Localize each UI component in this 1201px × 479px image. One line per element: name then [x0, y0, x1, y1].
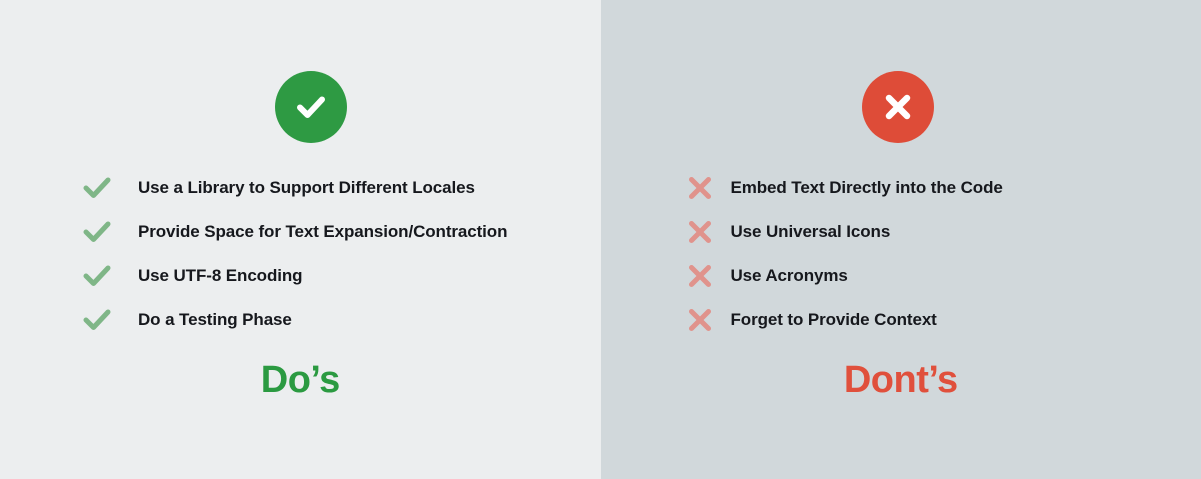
- check-icon: [80, 173, 114, 203]
- donts-caption: Dont’s: [601, 360, 1201, 402]
- list-item-label: Forget to Provide Context: [731, 310, 937, 330]
- dos-panel: Use a Library to Support Different Local…: [0, 0, 601, 479]
- list-item: Use Acronyms: [683, 254, 1003, 298]
- list-item: Forget to Provide Context: [683, 298, 1003, 342]
- dos-list: Use a Library to Support Different Local…: [80, 166, 507, 342]
- cross-icon: [683, 217, 717, 247]
- list-item-label: Use a Library to Support Different Local…: [138, 178, 475, 198]
- dos-caption: Do’s: [0, 360, 601, 402]
- list-item: Use Universal Icons: [683, 210, 1003, 254]
- list-item: Do a Testing Phase: [80, 298, 507, 342]
- list-item: Provide Space for Text Expansion/Contrac…: [80, 210, 507, 254]
- check-icon: [80, 305, 114, 335]
- cross-icon: [683, 261, 717, 291]
- list-item: Use a Library to Support Different Local…: [80, 166, 507, 210]
- dos-and-donts-infographic: Use a Library to Support Different Local…: [0, 0, 1201, 479]
- check-icon: [80, 261, 114, 291]
- list-item-label: Use Acronyms: [731, 266, 848, 286]
- list-item-label: Provide Space for Text Expansion/Contrac…: [138, 222, 507, 242]
- list-item: Embed Text Directly into the Code: [683, 166, 1003, 210]
- check-circle-icon: [275, 71, 347, 143]
- donts-panel: Embed Text Directly into the Code Use Un…: [601, 0, 1201, 479]
- list-item-label: Embed Text Directly into the Code: [731, 178, 1003, 198]
- donts-list: Embed Text Directly into the Code Use Un…: [683, 166, 1003, 342]
- list-item-label: Use Universal Icons: [731, 222, 891, 242]
- list-item: Use UTF-8 Encoding: [80, 254, 507, 298]
- cross-circle-icon: [862, 71, 934, 143]
- cross-icon: [683, 305, 717, 335]
- check-icon: [80, 217, 114, 247]
- list-item-label: Use UTF-8 Encoding: [138, 266, 302, 286]
- cross-icon: [683, 173, 717, 203]
- list-item-label: Do a Testing Phase: [138, 310, 292, 330]
